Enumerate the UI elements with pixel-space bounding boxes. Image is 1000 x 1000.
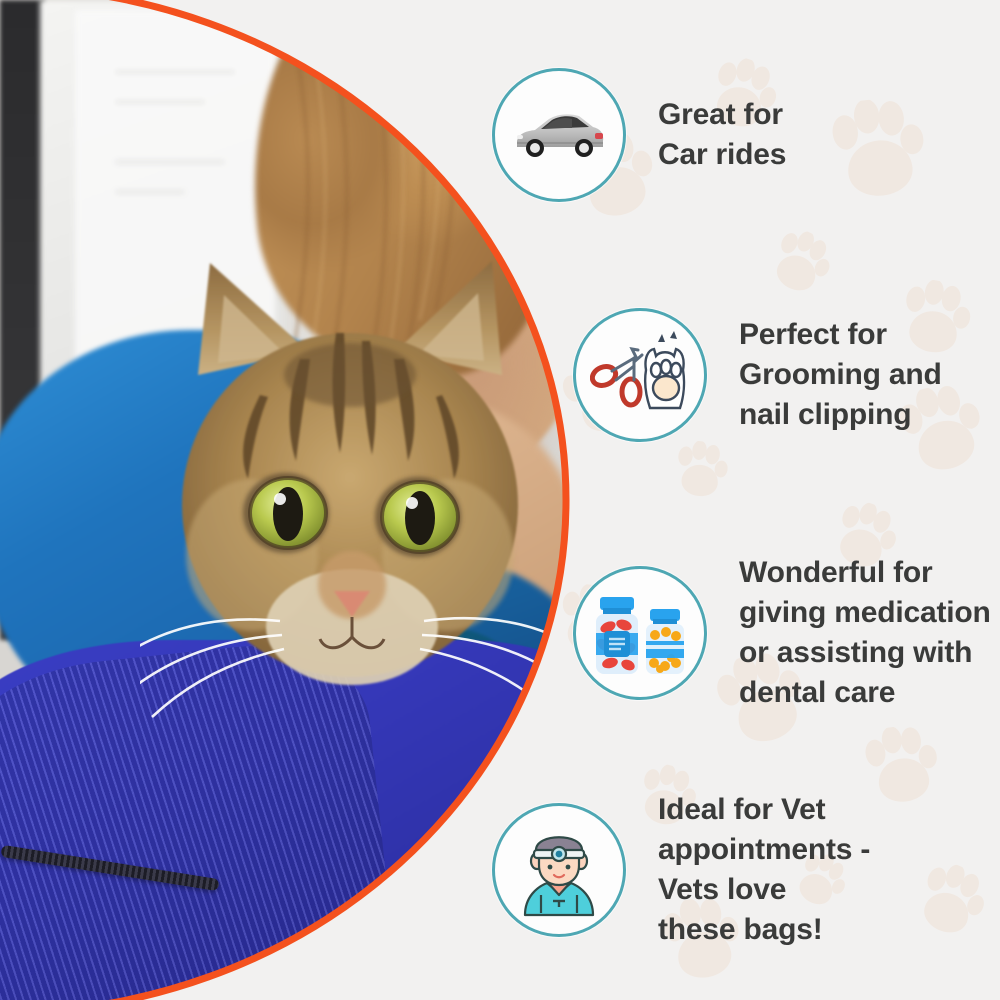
- feature-icon-circle: [492, 803, 626, 937]
- veterinarian-icon: [511, 823, 607, 917]
- car-icon: [511, 107, 607, 163]
- promo-image: Great for Car rides: [0, 0, 1000, 1000]
- feature-item-medication[interactable]: Wonderful for giving medication or assis…: [573, 553, 991, 713]
- feature-icon-circle: [573, 566, 707, 700]
- feature-item-vet[interactable]: Ideal for Vet appointments - Vets love t…: [492, 790, 870, 950]
- feature-label: Ideal for Vet appointments - Vets love t…: [658, 790, 870, 950]
- feature-label: Wonderful for giving medication or assis…: [739, 553, 991, 713]
- pill-bottles-icon: [588, 587, 692, 679]
- feature-icon-circle: [492, 68, 626, 202]
- feature-item-grooming[interactable]: Perfect for Grooming and nail clipping: [573, 308, 942, 442]
- feature-list: Great for Car rides: [0, 0, 1000, 1000]
- feature-label: Great for Car rides: [658, 95, 786, 175]
- nail-clippers-paw-icon: [590, 330, 690, 420]
- feature-item-car-rides[interactable]: Great for Car rides: [492, 68, 786, 202]
- feature-label: Perfect for Grooming and nail clipping: [739, 315, 942, 435]
- feature-icon-circle: [573, 308, 707, 442]
